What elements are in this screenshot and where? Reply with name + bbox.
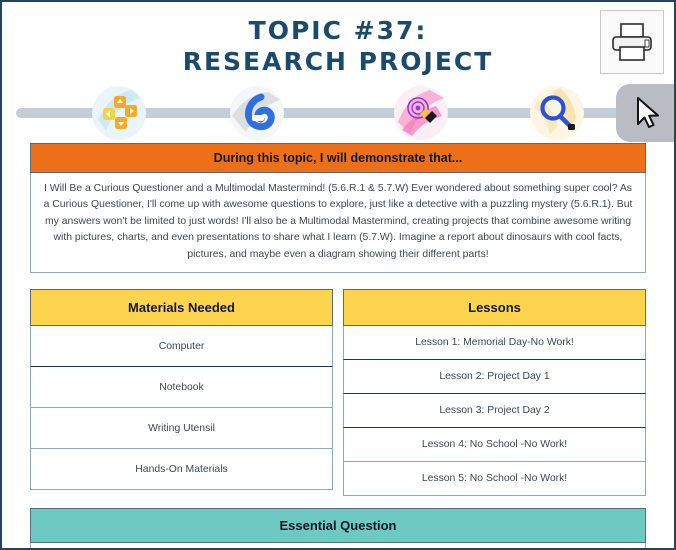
- progress-steps: [2, 83, 674, 139]
- table-row: Lesson 3: Project Day 2: [343, 394, 646, 428]
- title-line-2: RESEARCH PROJECT: [2, 47, 674, 78]
- table-row: Hands-On Materials: [30, 449, 333, 490]
- table-row: Lesson 5: No School -No Work!: [343, 462, 646, 496]
- worksheet-page: TOPIC #37: RESEARCH PROJECT: [0, 0, 676, 550]
- title-line-1: TOPIC #37:: [2, 16, 674, 47]
- step-icon-key[interactable]: [230, 86, 284, 140]
- materials-heading: Materials Needed: [30, 289, 333, 326]
- arrow-tiles-icon: [92, 86, 146, 140]
- printer-icon: [609, 21, 655, 63]
- lessons-table: Lessons Lesson 1: Memorial Day-No Work! …: [343, 289, 646, 496]
- table-row: Computer: [30, 326, 333, 367]
- mouse-cursor-icon: [633, 96, 661, 130]
- essential-question-body: How can becoming a Curious Questioner an…: [30, 543, 646, 550]
- mouse-cursor-indicator: [616, 84, 676, 142]
- key-number-icon: [230, 86, 284, 140]
- table-row: Lesson 4: No School -No Work!: [343, 428, 646, 462]
- page-title: TOPIC #37: RESEARCH PROJECT: [2, 2, 674, 77]
- table-row: Writing Utensil: [30, 408, 333, 449]
- materials-table: Materials Needed Computer Notebook Writi…: [30, 289, 333, 496]
- table-row: Notebook: [30, 367, 333, 408]
- magnifying-glass-icon: [530, 86, 584, 140]
- tables-row: Materials Needed Computer Notebook Writi…: [30, 289, 646, 496]
- demonstrate-heading: During this topic, I will demonstrate th…: [30, 143, 646, 173]
- step-icon-arrows[interactable]: [92, 86, 146, 140]
- essential-question-heading: Essential Question: [30, 508, 646, 543]
- essential-question-card: Essential Question How can becoming a Cu…: [30, 508, 646, 550]
- step-icon-target-hand[interactable]: [394, 86, 448, 140]
- target-hand-icon: [394, 86, 448, 140]
- table-row: Lesson 1: Memorial Day-No Work!: [343, 326, 646, 360]
- print-button[interactable]: [600, 10, 664, 74]
- demonstrate-body: I Will Be a Curious Questioner and a Mul…: [30, 173, 646, 273]
- table-row: Lesson 2: Project Day 1: [343, 360, 646, 394]
- lessons-heading: Lessons: [343, 289, 646, 326]
- step-icon-magnifier[interactable]: [530, 86, 584, 140]
- demonstrate-card: During this topic, I will demonstrate th…: [30, 143, 646, 273]
